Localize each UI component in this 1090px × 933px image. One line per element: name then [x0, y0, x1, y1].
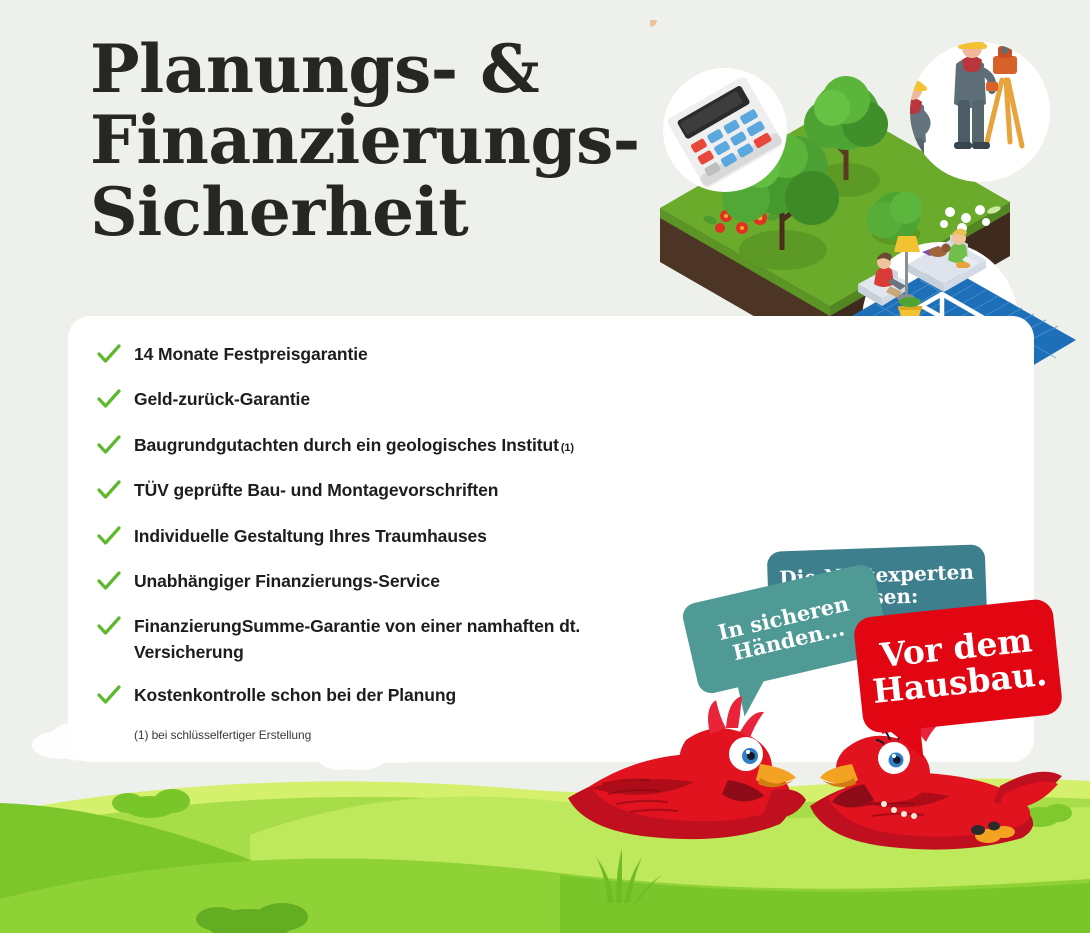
list-item: Baugrundgutachten durch ein geologisches… — [96, 433, 696, 458]
speech-bubble-before-build-text: Vor dem Hausbau. — [867, 622, 1048, 710]
bubble-tail-icon — [886, 724, 923, 761]
page-title: Planungs- & Finanzierungs- Sicherheit — [90, 34, 690, 248]
list-item: Geld-zurück-Garantie — [96, 387, 696, 412]
calculator-callout — [663, 68, 787, 192]
check-icon — [96, 343, 134, 367]
list-item-label: FinanzierungSumme-Garantie von einer nam… — [134, 614, 634, 665]
list-item-label: Baugrundgutachten durch ein geologisches… — [134, 433, 574, 458]
check-icon — [96, 434, 134, 458]
check-icon — [96, 388, 134, 412]
list-item: FinanzierungSumme-Garantie von einer nam… — [96, 614, 696, 665]
list-item: 14 Monate Festpreisgarantie — [96, 342, 696, 367]
list-item: Individuelle Gestaltung Ihres Traumhause… — [96, 524, 696, 549]
footnote-marker: (1) — [561, 442, 574, 454]
list-item-label: Unabhängiger Finanzierungs-Service — [134, 569, 440, 594]
infographic-root: Planungs- & Finanzierungs- Sicherheit — [0, 0, 1090, 933]
check-icon — [96, 479, 134, 503]
speech-bubble-safe-hands-text: In sicheren Händen... — [716, 592, 856, 667]
list-item-label: Kostenkontrolle schon bei der Planung — [134, 683, 456, 708]
list-item-label: Geld-zurück-Garantie — [134, 387, 310, 412]
list-item: Unabhängiger Finanzierungs-Service — [96, 569, 696, 594]
check-icon — [96, 570, 134, 594]
bird-left — [568, 696, 806, 839]
check-icon — [96, 615, 134, 639]
check-icon — [96, 525, 134, 549]
list-item-label: 14 Monate Festpreisgarantie — [134, 342, 368, 367]
speech-bubble-before-build: Vor dem Hausbau. — [852, 598, 1063, 734]
check-icon — [96, 684, 134, 708]
list-item-label: Individuelle Gestaltung Ihres Traumhause… — [134, 524, 487, 549]
list-item: TÜV geprüfte Bau- und Montagevorschrifte… — [96, 478, 696, 503]
list-item-label: TÜV geprüfte Bau- und Montagevorschrifte… — [134, 478, 498, 503]
